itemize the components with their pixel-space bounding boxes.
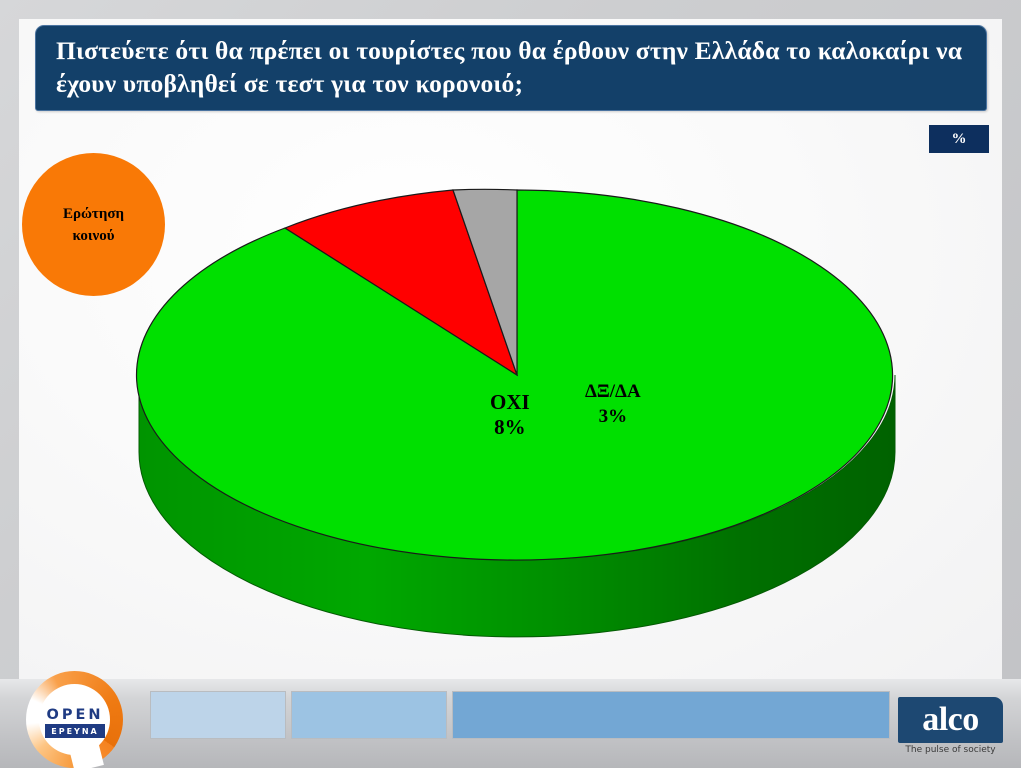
alco-logo-word: alco bbox=[922, 703, 979, 737]
percent-unit-badge: % bbox=[929, 125, 989, 153]
page-title: Πιστεύετε ότι θα πρέπει οι τουρίστες που… bbox=[56, 34, 966, 100]
alco-logo: alco bbox=[898, 697, 1003, 743]
open-logo-subtitle: ΕΡΕΥΝΑ bbox=[45, 724, 105, 738]
alco-tagline: The pulse of society bbox=[898, 745, 1003, 755]
pie-label-dk: ΔΞ/ΔΑ 3% bbox=[585, 379, 641, 429]
footer-bar-3 bbox=[452, 691, 890, 739]
pie-label-oxi-value: 8% bbox=[490, 415, 530, 440]
pie-label-oxi: ΟΧΙ 8% bbox=[490, 390, 530, 440]
pie-label-dk-name: ΔΞ/ΔΑ bbox=[585, 379, 641, 404]
footer-bar-1 bbox=[150, 691, 286, 739]
audience-badge-line-1: Ερώτηση bbox=[63, 203, 124, 225]
title-bar: Πιστεύετε ότι θα πρέπει οι τουρίστες που… bbox=[35, 25, 987, 111]
footer-bar-2 bbox=[291, 691, 447, 739]
open-logo-word: OPEN bbox=[42, 707, 108, 723]
audience-badge-line-2: κοινού bbox=[72, 225, 114, 247]
pie-chart: ΝΑΙ 89% ΟΧΙ 8% ΔΞ/ΔΑ 3% bbox=[130, 180, 910, 660]
open-ereyna-logo: OPEN ΕΡΕΥΝΑ bbox=[26, 671, 123, 768]
pie-label-oxi-name: ΟΧΙ bbox=[490, 390, 530, 415]
slide-root: Πιστεύετε ότι θα πρέπει οι τουρίστες που… bbox=[0, 0, 1021, 768]
pie-label-dk-value: 3% bbox=[585, 404, 641, 429]
